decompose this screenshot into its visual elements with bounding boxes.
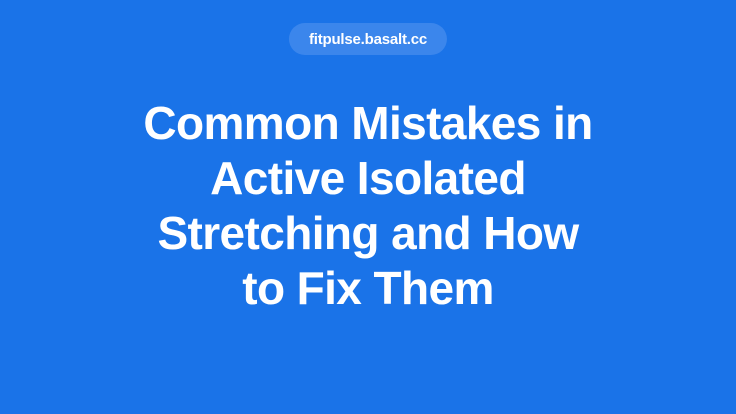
domain-badge: fitpulse.basalt.cc	[289, 23, 447, 55]
domain-badge-label: fitpulse.basalt.cc	[309, 32, 427, 47]
page-title-line-2: Active Isolated	[48, 151, 688, 206]
page-title: Common Mistakes in Active Isolated Stret…	[0, 96, 736, 316]
page-title-line-4: to Fix Them	[48, 261, 688, 316]
page-title-line-3: Stretching and How	[48, 206, 688, 261]
social-share-card: fitpulse.basalt.cc Common Mistakes in Ac…	[0, 0, 736, 414]
page-title-line-1: Common Mistakes in	[48, 96, 688, 151]
